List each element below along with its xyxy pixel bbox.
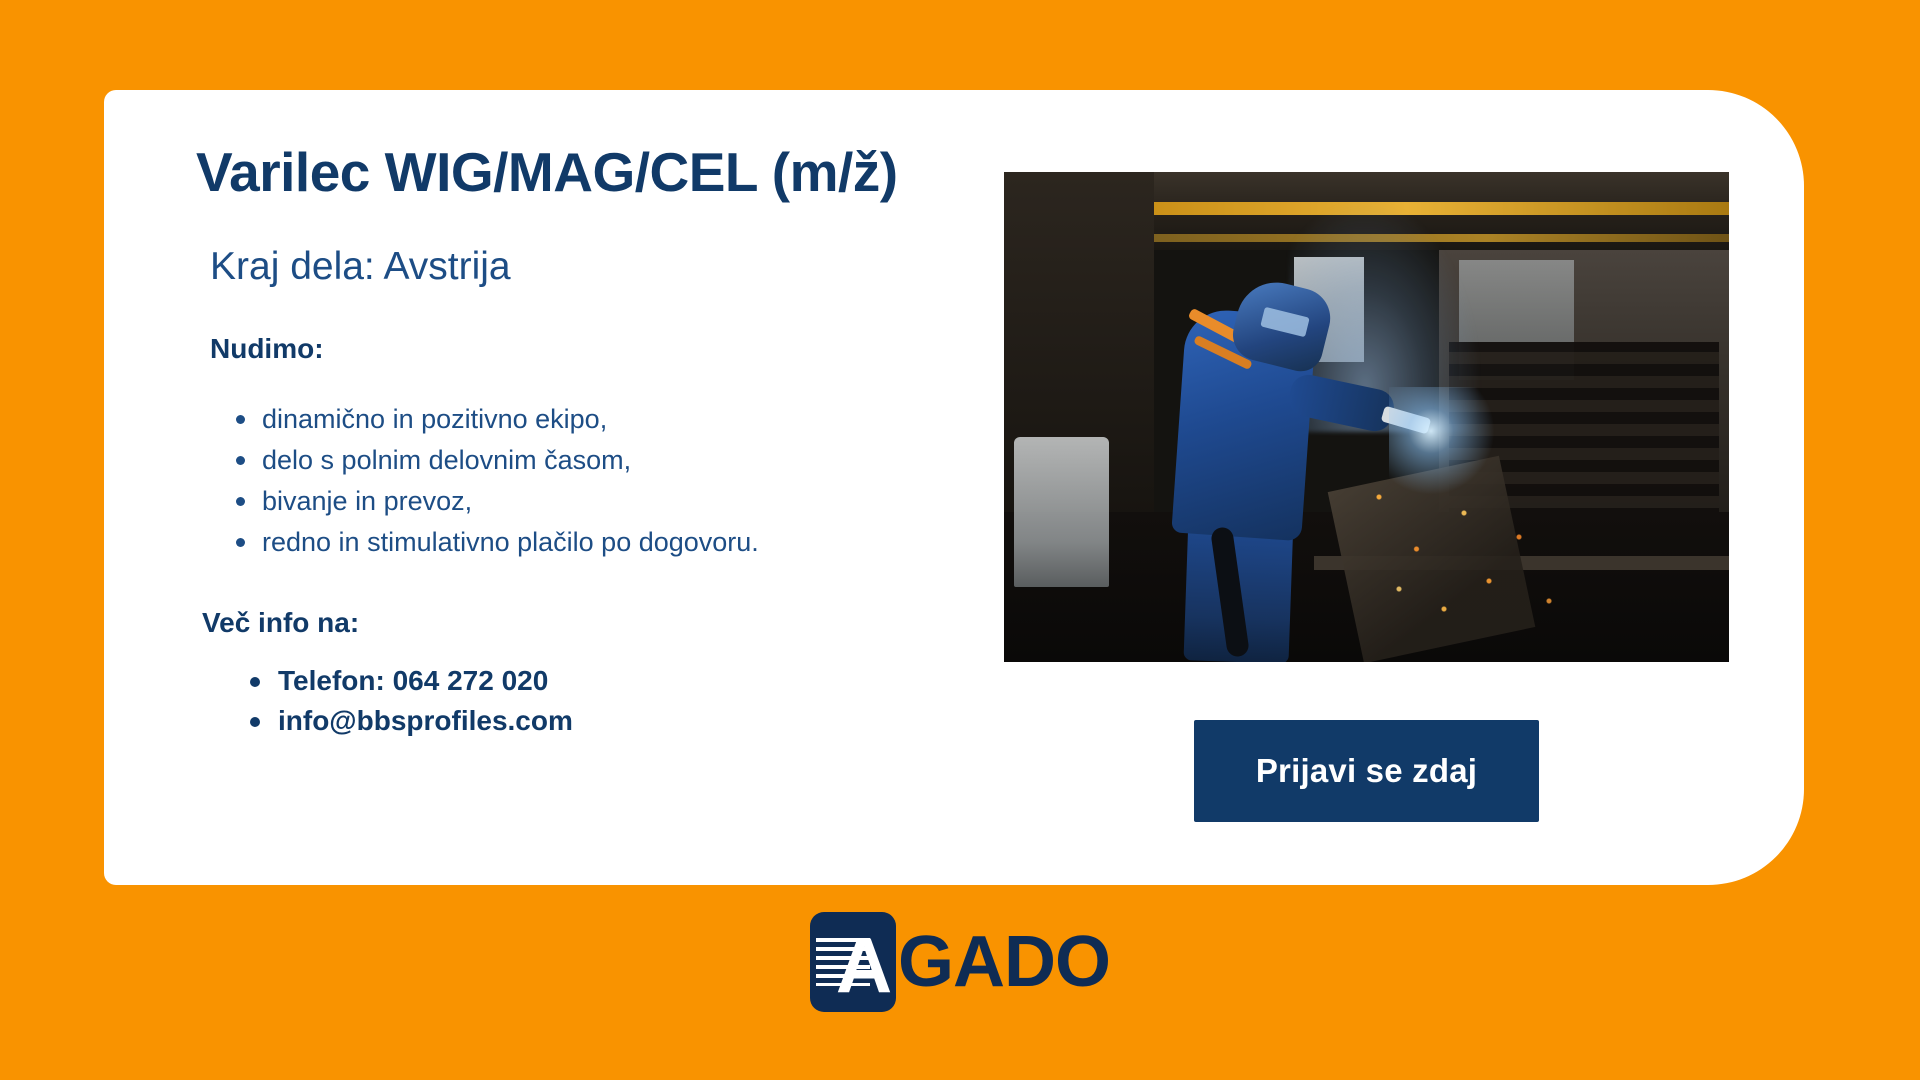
footer: A GADO <box>0 912 1920 1012</box>
list-item: redno in stimulativno plačilo po dogovor… <box>232 522 1096 563</box>
logo-letter-a: A <box>832 928 896 1002</box>
list-item: dinamično in pozitivno ekipo, <box>232 399 1096 440</box>
job-location: Kraj dela: Avstrija <box>210 246 1096 289</box>
list-item: bivanje in prevoz, <box>232 481 1096 522</box>
photo-chair <box>1014 437 1109 587</box>
page-title: Varilec WIG/MAG/CEL (m/ž) <box>196 144 1096 202</box>
apply-now-button[interactable]: Prijavi se zdaj <box>1194 720 1539 822</box>
logo-wordmark: GADO <box>898 926 1110 998</box>
contact-email[interactable]: info@bbsprofiles.com <box>248 701 1096 741</box>
offer-list: dinamično in pozitivno ekipo, delo s pol… <box>232 399 1096 563</box>
media-column <box>1004 172 1729 662</box>
more-info-heading: Več info na: <box>202 607 1096 639</box>
list-item: delo s polnim delovnim časom, <box>232 440 1096 481</box>
job-details-column: Varilec WIG/MAG/CEL (m/ž) Kraj dela: Avs… <box>196 144 1096 740</box>
offer-heading: Nudimo: <box>210 333 1096 365</box>
agado-logo: A GADO <box>810 912 1110 1012</box>
cta-row: Prijavi se zdaj <box>1004 720 1729 822</box>
contact-phone[interactable]: Telefon: 064 272 020 <box>248 661 1096 701</box>
photo-sparks <box>1334 457 1584 657</box>
contact-list: Telefon: 064 272 020 info@bbsprofiles.co… <box>248 661 1096 741</box>
job-ad-card: Varilec WIG/MAG/CEL (m/ž) Kraj dela: Avs… <box>104 90 1804 885</box>
agado-logo-mark-icon: A <box>810 912 896 1012</box>
welder-photo <box>1004 172 1729 662</box>
